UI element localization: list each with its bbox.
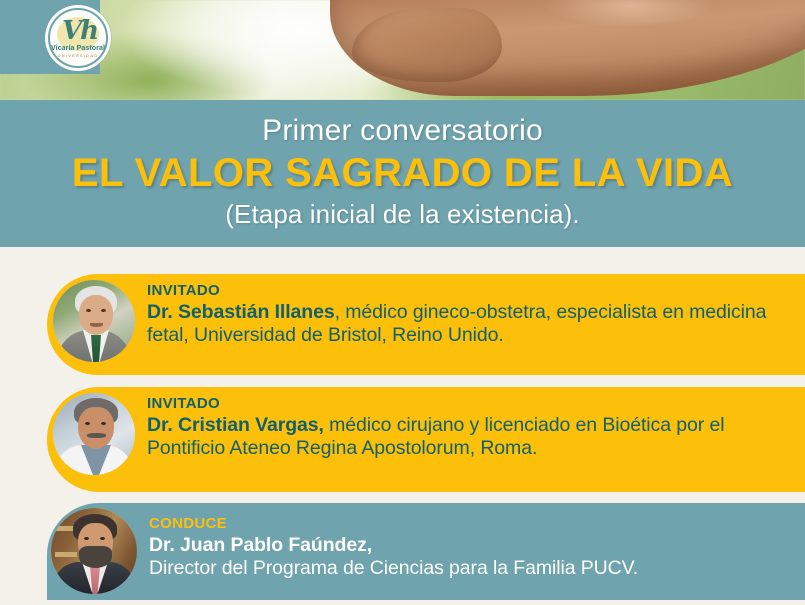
speaker-bio: Dr. Cristian Vargas, médico cirujano y l…: [147, 414, 791, 460]
avatar-eye-left: [84, 537, 89, 540]
logo-monogram-icon: Vh: [62, 16, 94, 46]
speaker-bio: Dr. Sebastián Illanes, médico gineco-obs…: [147, 301, 791, 347]
avatar: [53, 393, 135, 475]
speaker-name: Dr. Sebastián Illanes: [147, 301, 335, 323]
speaker-card: INVITADO Dr. Sebastián Illanes, médico g…: [47, 274, 805, 375]
event-subline: (Etapa inicial de la existencia).: [0, 197, 805, 231]
elderly-hand-shape: [352, 8, 502, 82]
avatar-face: [79, 295, 113, 335]
avatar-bookshelf-line: [55, 552, 77, 557]
speaker-text: INVITADO Dr. Sebastián Illanes, médico g…: [147, 274, 805, 347]
host-name-line: Dr. Juan Pablo Faúndez,: [149, 534, 638, 557]
speaker-card: INVITADO Dr. Cristian Vargas, médico cir…: [47, 387, 805, 492]
avatar-eye-right: [101, 422, 106, 425]
avatar-mouth: [90, 323, 103, 327]
avatar: [51, 508, 137, 594]
host-text: CONDUCE Dr. Juan Pablo Faúndez, Director…: [149, 503, 652, 580]
speaker-text: INVITADO Dr. Cristian Vargas, médico cir…: [147, 387, 805, 460]
host-card: CONDUCE Dr. Juan Pablo Faúndez, Director…: [47, 503, 805, 600]
logo-subtitle-text: UNIVERSIDAD: [45, 53, 111, 58]
logo-name-text: Vicaría Pastoral: [45, 45, 111, 52]
event-headline: EL VALOR SAGRADO DE LA VIDA: [0, 149, 805, 197]
avatar-eye-left: [86, 309, 91, 312]
speaker-name: Dr. Cristian Vargas,: [147, 414, 324, 436]
avatar-beard: [79, 546, 112, 568]
avatar-eye-right: [100, 537, 105, 540]
event-kicker: Primer conversatorio: [0, 113, 805, 149]
avatar-moustache: [87, 433, 106, 438]
avatar-face: [78, 407, 114, 449]
avatar-eye-left: [85, 422, 90, 425]
host-role: CONDUCE: [149, 514, 638, 533]
hero-banner: Vh Vicaría Pastoral UNIVERSIDAD: [0, 0, 805, 100]
avatar-eye-right: [101, 309, 106, 312]
host-description: Director del Programa de Ciencias para l…: [149, 557, 638, 580]
title-band: Primer conversatorio EL VALOR SAGRADO DE…: [0, 100, 805, 247]
host-name: Dr. Juan Pablo Faúndez,: [149, 534, 372, 556]
avatar: [53, 280, 135, 362]
vicaria-pastoral-logo: Vh Vicaría Pastoral UNIVERSIDAD: [45, 5, 111, 71]
speaker-role: INVITADO: [147, 394, 791, 413]
speaker-role: INVITADO: [147, 281, 791, 300]
